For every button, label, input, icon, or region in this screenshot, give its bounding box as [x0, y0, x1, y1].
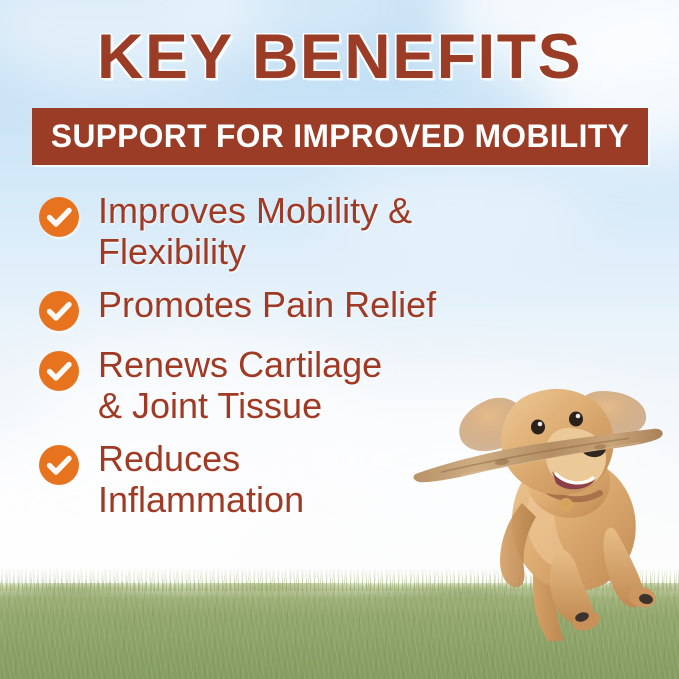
check-circle-icon	[38, 350, 80, 392]
dog-eye-right-glint	[576, 414, 581, 419]
dog-eye-right	[569, 412, 583, 427]
check-circle-icon	[38, 444, 80, 486]
list-item: Renews Cartilage & Joint Tissue	[38, 344, 468, 426]
subtitle-banner-text: SUPPORT FOR IMPROVED MOBILITY	[51, 118, 629, 155]
dog-eye-left	[531, 420, 545, 435]
list-item: Reduces Inflammation	[38, 438, 468, 520]
dog-eye-left-glint	[538, 422, 543, 427]
dog-collar-tag	[559, 498, 573, 512]
benefit-text: Promotes Pain Relief	[98, 284, 436, 325]
benefits-list: Improves Mobility & Flexibility Promotes…	[38, 190, 468, 532]
subtitle-banner: SUPPORT FOR IMPROVED MOBILITY	[32, 108, 648, 165]
page-title: KEY BENEFITS	[0, 24, 679, 90]
list-item: Improves Mobility & Flexibility	[38, 190, 468, 272]
list-item: Promotes Pain Relief	[38, 284, 468, 332]
benefit-text: Improves Mobility & Flexibility	[98, 190, 412, 272]
benefit-text: Reduces Inflammation	[98, 438, 304, 520]
check-circle-icon	[38, 196, 80, 238]
benefit-text: Renews Cartilage & Joint Tissue	[98, 344, 382, 426]
key-benefits-poster: KEY BENEFITS SUPPORT FOR IMPROVED MOBILI…	[0, 0, 679, 679]
check-circle-icon	[38, 290, 80, 332]
